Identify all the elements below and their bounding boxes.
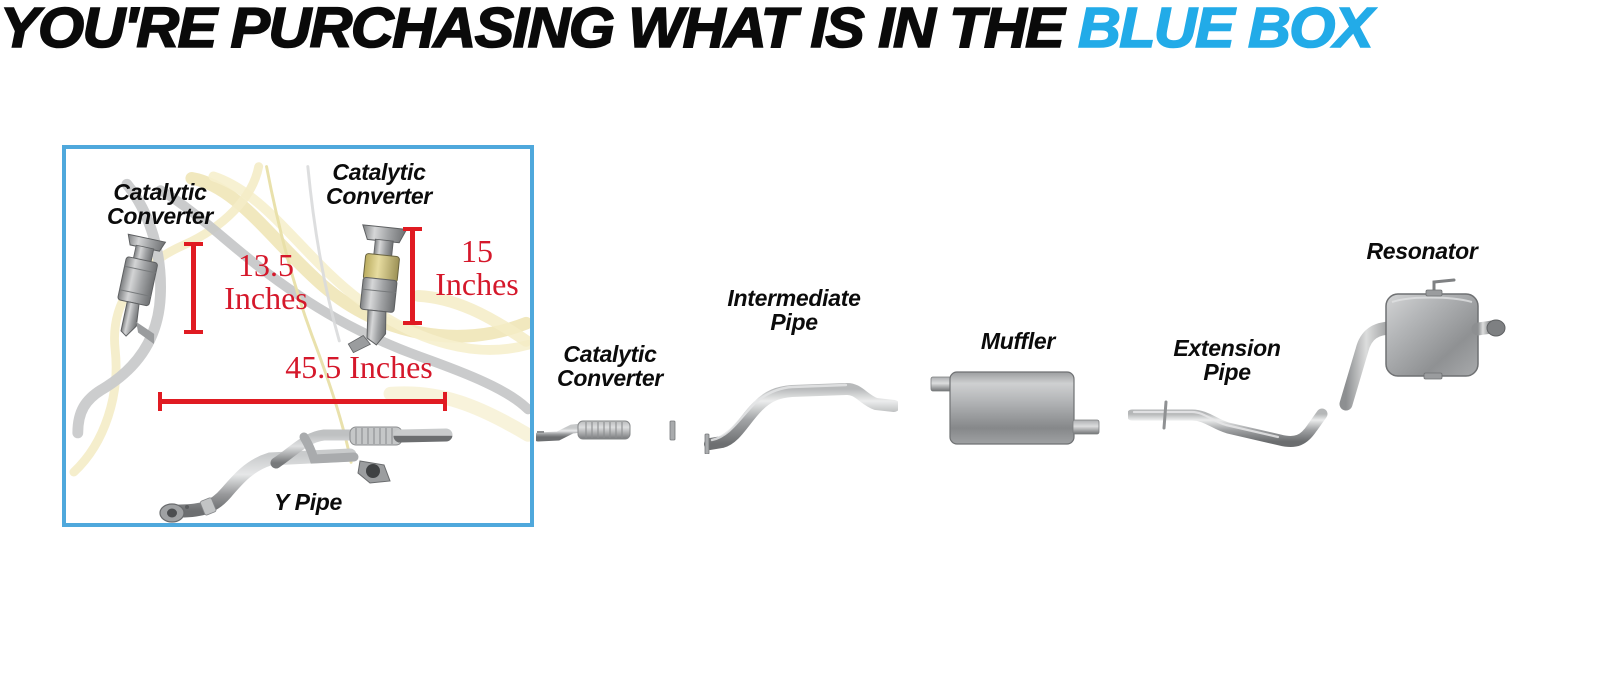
measure-cap-13-5-bottom <box>184 330 203 334</box>
catalytic-converter-graphic <box>536 415 686 451</box>
blue-box-label-catalytic-right: Catalytic Converter <box>294 161 464 209</box>
blue-box-highlight-region: Catalytic Converter Catalytic Converter … <box>62 145 534 527</box>
page-title-black-part: YOU'RE PURCHASING WHAT IS IN THE <box>0 0 1078 60</box>
measure-bar-15 <box>410 229 415 325</box>
component-label-muffler: Muffler <box>952 330 1084 354</box>
intermediate-pipe-graphic <box>700 356 898 454</box>
component-label-resonator: Resonator <box>1336 240 1508 264</box>
measure-cap-13-5-top <box>184 242 203 246</box>
measure-cap-15-bottom <box>403 321 422 325</box>
component-label-catalytic-converter: Catalytic Converter <box>534 343 686 391</box>
exhaust-system-diagram: YOU'RE PURCHASING WHAT IS IN THE BLUE BO… <box>0 0 1600 685</box>
blue-box-label-y-pipe: Y Pipe <box>248 491 368 515</box>
measure-bar-13-5 <box>191 244 196 332</box>
measure-label-15: 15 Inches <box>418 235 536 300</box>
component-label-extension-pipe: Extension Pipe <box>1142 337 1312 385</box>
resonator-graphic <box>1330 272 1508 424</box>
blue-box-label-catalytic-left: Catalytic Converter <box>80 181 240 229</box>
measure-label-45-5: 45.5 Inches <box>214 351 504 384</box>
measure-cap-15-top <box>403 227 422 231</box>
page-title-blue-part: BLUE BOX <box>1078 0 1372 60</box>
catalytic-converter-left-graphic <box>90 229 180 359</box>
measure-label-13-5: 13.5 Inches <box>201 249 331 314</box>
measure-cap-45-5-right <box>443 392 447 411</box>
measure-cap-45-5-left <box>158 392 162 411</box>
page-title: YOU'RE PURCHASING WHAT IS IN THE BLUE BO… <box>0 0 1600 60</box>
measure-bar-45-5 <box>159 399 447 404</box>
component-label-intermediate-pipe: Intermediate Pipe <box>700 287 888 335</box>
muffler-graphic <box>925 362 1107 458</box>
extension-pipe-graphic <box>1128 398 1340 460</box>
